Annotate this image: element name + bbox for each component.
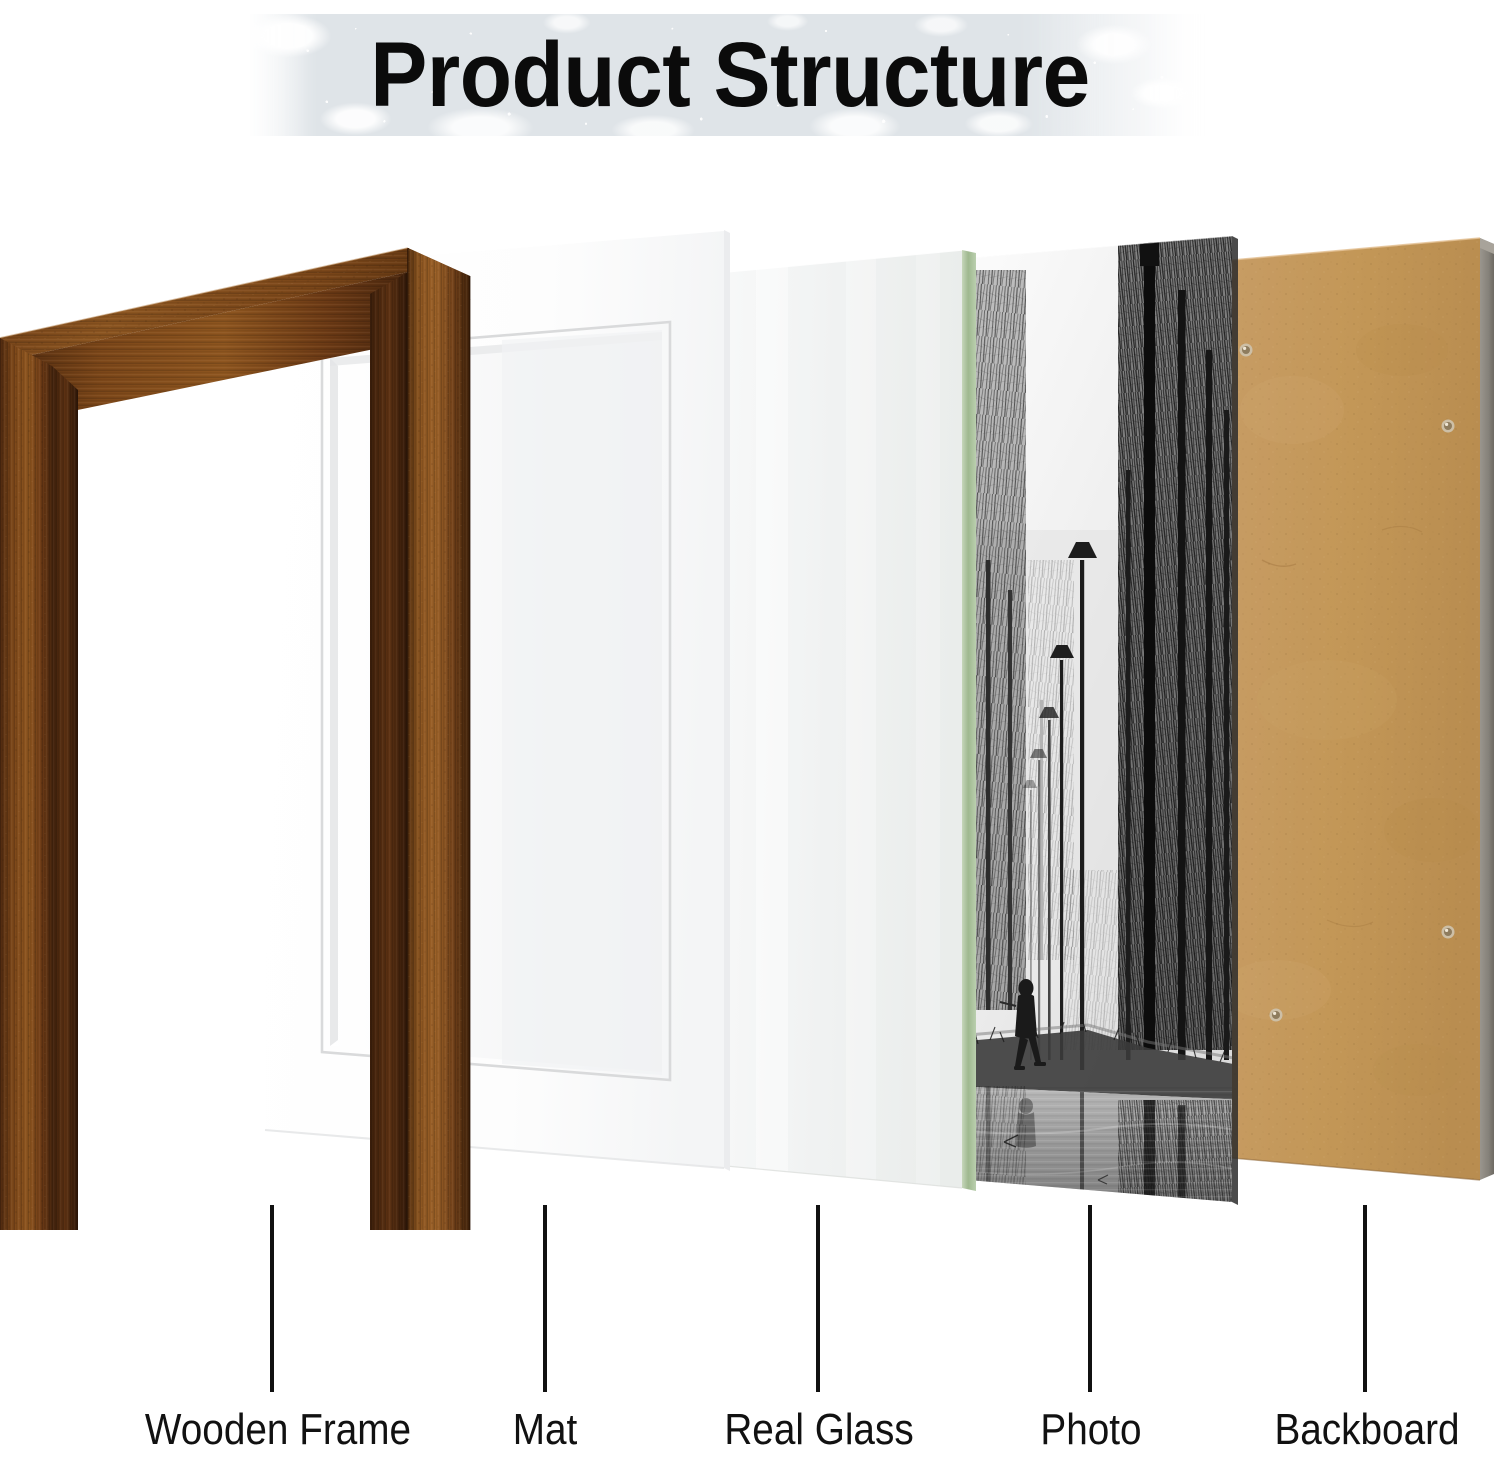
- exploded-view: [0, 230, 1500, 1210]
- caption-wooden-frame: Wooden Frame: [127, 1405, 429, 1455]
- caption-real-glass: Real Glass: [711, 1405, 926, 1455]
- infographic-canvas: Product Structure: [0, 0, 1500, 1472]
- caption-wooden-frame-label: Wooden Frame: [145, 1405, 411, 1455]
- caption-real-glass-label: Real Glass: [724, 1405, 913, 1455]
- title-banner: Product Structure: [250, 14, 1210, 136]
- page-title: Product Structure: [284, 14, 1177, 136]
- layer-glass: [726, 249, 976, 1191]
- leader-line-backboard: [1363, 1205, 1367, 1392]
- caption-photo: Photo: [1034, 1405, 1149, 1455]
- layer-backboard: [1222, 230, 1500, 1200]
- frame-left-stile: [0, 338, 78, 1230]
- frame-right-stile: [370, 248, 470, 1230]
- leader-line-wooden-frame: [270, 1205, 274, 1392]
- leader-line-real-glass: [816, 1205, 820, 1392]
- layer-photo: [956, 230, 1256, 1230]
- caption-backboard-label: Backboard: [1274, 1405, 1459, 1455]
- caption-mat: Mat: [508, 1405, 581, 1455]
- caption-mat-label: Mat: [513, 1405, 578, 1455]
- caption-backboard: Backboard: [1262, 1405, 1472, 1455]
- leader-line-photo: [1088, 1205, 1092, 1392]
- caption-photo-label: Photo: [1040, 1405, 1141, 1455]
- layer-mat: [265, 230, 730, 1171]
- layer-wooden-frame: [0, 248, 470, 1230]
- leader-line-mat: [543, 1205, 547, 1392]
